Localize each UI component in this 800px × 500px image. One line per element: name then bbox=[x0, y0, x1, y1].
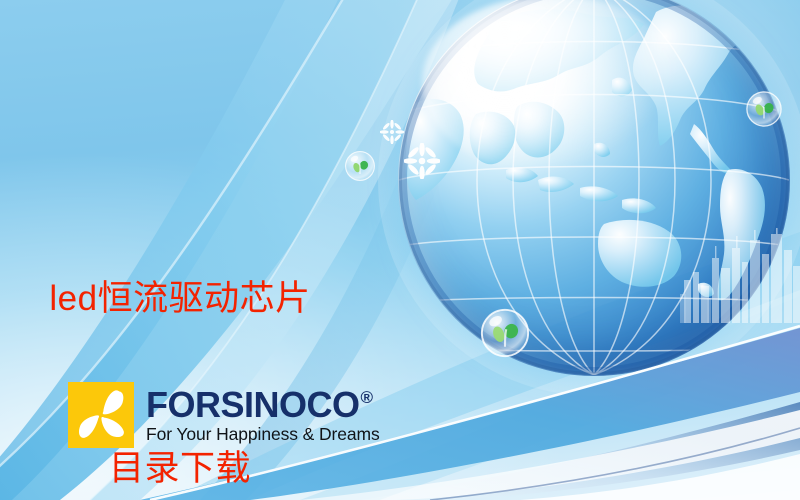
promo-poster: led恒流驱动芯片 目录下载 FORSINOCO ® bbox=[0, 0, 800, 500]
registered-trademark-symbol: ® bbox=[361, 389, 373, 406]
headline-line-1: led恒流驱动芯片 bbox=[0, 271, 360, 328]
brand-tagline: For Your Happiness & Dreams bbox=[146, 426, 380, 444]
brand-text-block: FORSINOCO ® For Your Happiness & Dreams bbox=[146, 387, 380, 444]
headline: led恒流驱动芯片 目录下载 bbox=[0, 158, 360, 500]
brand-logo-lockup: FORSINOCO ® For Your Happiness & Dreams bbox=[68, 382, 380, 448]
four-petal-propeller-icon bbox=[68, 382, 134, 448]
headline-line-2: 目录下载 bbox=[0, 441, 360, 498]
propeller-petals bbox=[68, 382, 134, 448]
brand-name: FORSINOCO ® bbox=[146, 387, 380, 423]
brand-name-text: FORSINOCO bbox=[146, 387, 360, 423]
